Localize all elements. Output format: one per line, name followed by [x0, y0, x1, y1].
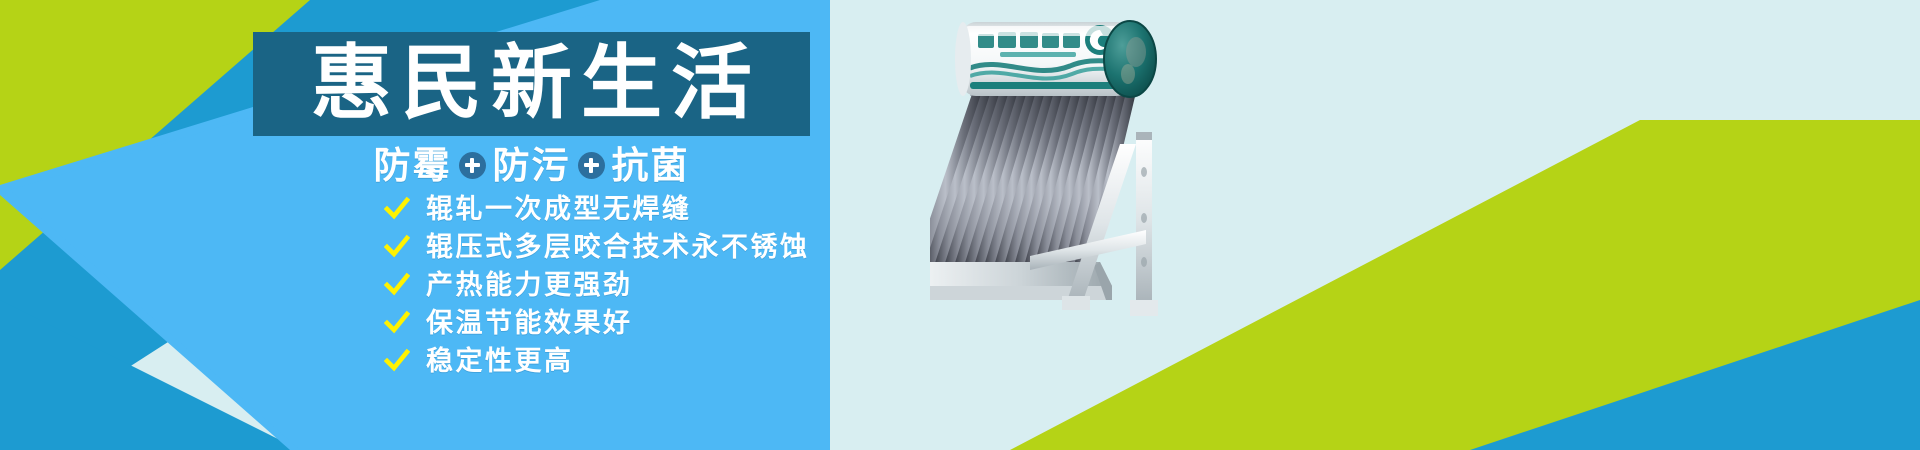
list-item: 辊压式多层咬合技术永不锈蚀: [384, 232, 810, 262]
plus-icon: [459, 152, 486, 179]
list-item-label: 辊压式多层咬合技术永不锈蚀: [426, 234, 810, 261]
solar-water-heater-image: [930, 4, 1290, 364]
list-item-label: 保温节能效果好: [426, 310, 633, 337]
list-item: 稳定性更高: [384, 346, 810, 376]
tank-end-cap: [1104, 21, 1156, 97]
subtitle-row: 防霉 防污 抗菌: [253, 140, 810, 190]
check-icon: [384, 272, 410, 298]
check-icon: [384, 348, 410, 374]
list-item: 辊轧一次成型无焊缝: [384, 194, 810, 224]
subtitle-word-3: 抗菌: [612, 147, 690, 184]
list-item-label: 稳定性更高: [426, 348, 574, 375]
title-banner-bar: 惠民新生活: [253, 32, 810, 136]
promo-banner: 惠民新生活 防霉 防污 抗菌 辊轧一次成型无焊缝 辊压式多层咬合技术永不锈蚀: [0, 0, 1920, 450]
plus-icon: [578, 152, 605, 179]
page-title: 惠民新生活: [302, 44, 761, 125]
feature-list: 辊轧一次成型无焊缝 辊压式多层咬合技术永不锈蚀 产热能力更强劲: [384, 194, 810, 376]
subtitle-word-1: 防霉: [374, 147, 452, 184]
list-item: 保温节能效果好: [384, 308, 810, 338]
check-icon: [384, 196, 410, 222]
subtitle-word-2: 防污: [493, 147, 571, 184]
list-item-label: 辊轧一次成型无焊缝: [426, 196, 692, 223]
list-item-label: 产热能力更强劲: [426, 272, 633, 299]
check-icon: [384, 310, 410, 336]
list-item: 产热能力更强劲: [384, 270, 810, 300]
check-icon: [384, 234, 410, 260]
